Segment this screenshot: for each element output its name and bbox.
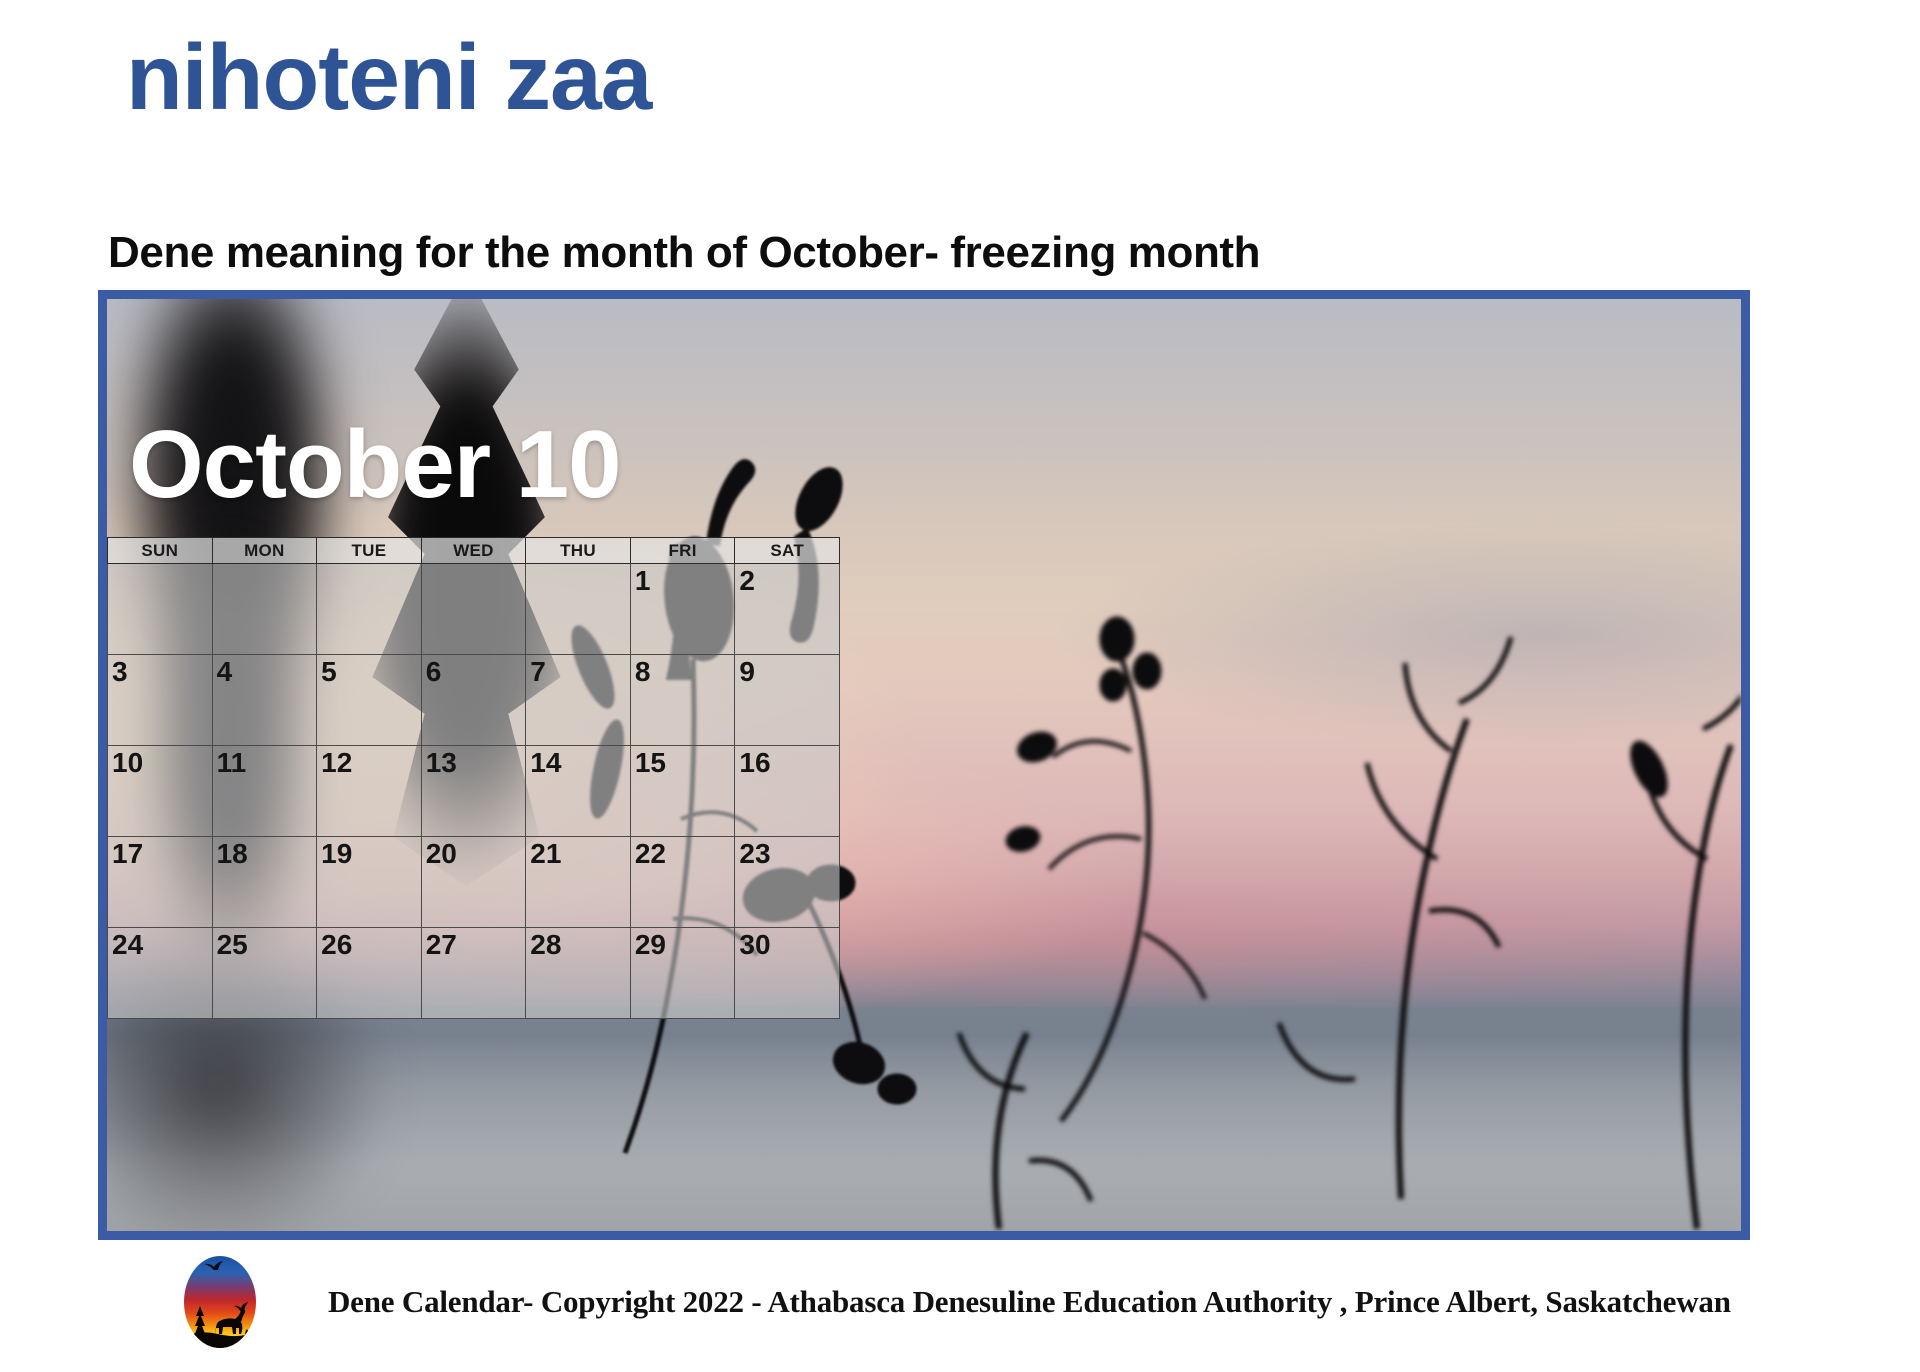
calendar-day-cell[interactable]: 1 <box>630 564 735 655</box>
calendar-day-cell[interactable]: 2 <box>735 564 840 655</box>
calendar-day-cell[interactable]: 23 <box>735 837 840 928</box>
dusk-lakeshore-silhouette-photo: October 10 SUN MON TUE WED THU FRI SAT <box>107 299 1741 1231</box>
calendar-day-cell[interactable]: 27 <box>421 928 526 1019</box>
calendar-day-cell[interactable]: 7 <box>526 655 631 746</box>
calendar-week-row: 3 4 5 6 7 8 9 <box>108 655 840 746</box>
footer-credit-text: Dene Calendar- Copyright 2022 - Athabasc… <box>328 1284 1731 1320</box>
calendar-day-cell[interactable]: 12 <box>317 746 422 837</box>
calendar-day-cell[interactable]: 25 <box>212 928 317 1019</box>
calendar-day-cell[interactable]: 19 <box>317 837 422 928</box>
calendar-day-cell[interactable]: 6 <box>421 655 526 746</box>
october-calendar-grid: SUN MON TUE WED THU FRI SAT <box>107 537 840 1019</box>
calendar-day-cell[interactable]: 4 <box>212 655 317 746</box>
weekday-header-thu: THU <box>526 538 631 564</box>
footer: Dene Calendar- Copyright 2022 - Athabasc… <box>184 1256 1731 1348</box>
weekday-header-mon: MON <box>212 538 317 564</box>
calendar-day-cell[interactable]: 13 <box>421 746 526 837</box>
calendar-day-cell[interactable]: 24 <box>108 928 213 1019</box>
calendar-day-cell[interactable]: 9 <box>735 655 840 746</box>
weekday-header-wed: WED <box>421 538 526 564</box>
weekday-header-tue: TUE <box>317 538 422 564</box>
calendar-day-cell[interactable] <box>317 564 422 655</box>
month-overlay-label: October 10 <box>129 417 621 513</box>
calendar-week-row: 24 25 26 27 28 29 30 <box>108 928 840 1019</box>
calendar-week-row: 10 11 12 13 14 15 16 <box>108 746 840 837</box>
page-subtitle: Dene meaning for the month of October- f… <box>108 228 1260 278</box>
calendar-day-cell[interactable]: 8 <box>630 655 735 746</box>
weekday-header-sun: SUN <box>108 538 213 564</box>
calendar-day-cell[interactable]: 17 <box>108 837 213 928</box>
calendar-day-cell[interactable] <box>526 564 631 655</box>
calendar-day-cell[interactable]: 3 <box>108 655 213 746</box>
athabasca-denesuline-caribou-sunset-logo <box>184 1256 256 1348</box>
calendar-day-cell[interactable]: 10 <box>108 746 213 837</box>
calendar-day-cell[interactable]: 16 <box>735 746 840 837</box>
slide-canvas: nihoteni zaa Dene meaning for the month … <box>0 0 1920 1372</box>
weekday-header-sat: SAT <box>735 538 840 564</box>
calendar-body: 1 2 3 4 5 6 7 8 9 10 11 <box>108 564 840 1019</box>
calendar-photo-frame: October 10 SUN MON TUE WED THU FRI SAT <box>98 290 1750 1240</box>
calendar-day-cell[interactable]: 20 <box>421 837 526 928</box>
calendar-day-cell[interactable]: 21 <box>526 837 631 928</box>
calendar-day-cell[interactable]: 11 <box>212 746 317 837</box>
calendar-day-cell[interactable]: 22 <box>630 837 735 928</box>
calendar-week-row: 1 2 <box>108 564 840 655</box>
calendar-day-cell[interactable] <box>421 564 526 655</box>
calendar-day-cell[interactable]: 26 <box>317 928 422 1019</box>
calendar-day-cell[interactable]: 5 <box>317 655 422 746</box>
calendar-day-cell[interactable]: 28 <box>526 928 631 1019</box>
page-title: nihoteni zaa <box>126 26 651 128</box>
calendar-day-cell[interactable]: 29 <box>630 928 735 1019</box>
calendar-week-row: 17 18 19 20 21 22 23 <box>108 837 840 928</box>
calendar-day-cell[interactable]: 14 <box>526 746 631 837</box>
calendar-day-cell[interactable]: 18 <box>212 837 317 928</box>
caribou-silhouette-icon <box>184 1256 256 1348</box>
calendar-day-cell[interactable] <box>108 564 213 655</box>
calendar-day-cell[interactable]: 15 <box>630 746 735 837</box>
weekday-header-row: SUN MON TUE WED THU FRI SAT <box>108 538 840 564</box>
calendar-day-cell[interactable]: 30 <box>735 928 840 1019</box>
calendar-day-cell[interactable] <box>212 564 317 655</box>
weekday-header-fri: FRI <box>630 538 735 564</box>
